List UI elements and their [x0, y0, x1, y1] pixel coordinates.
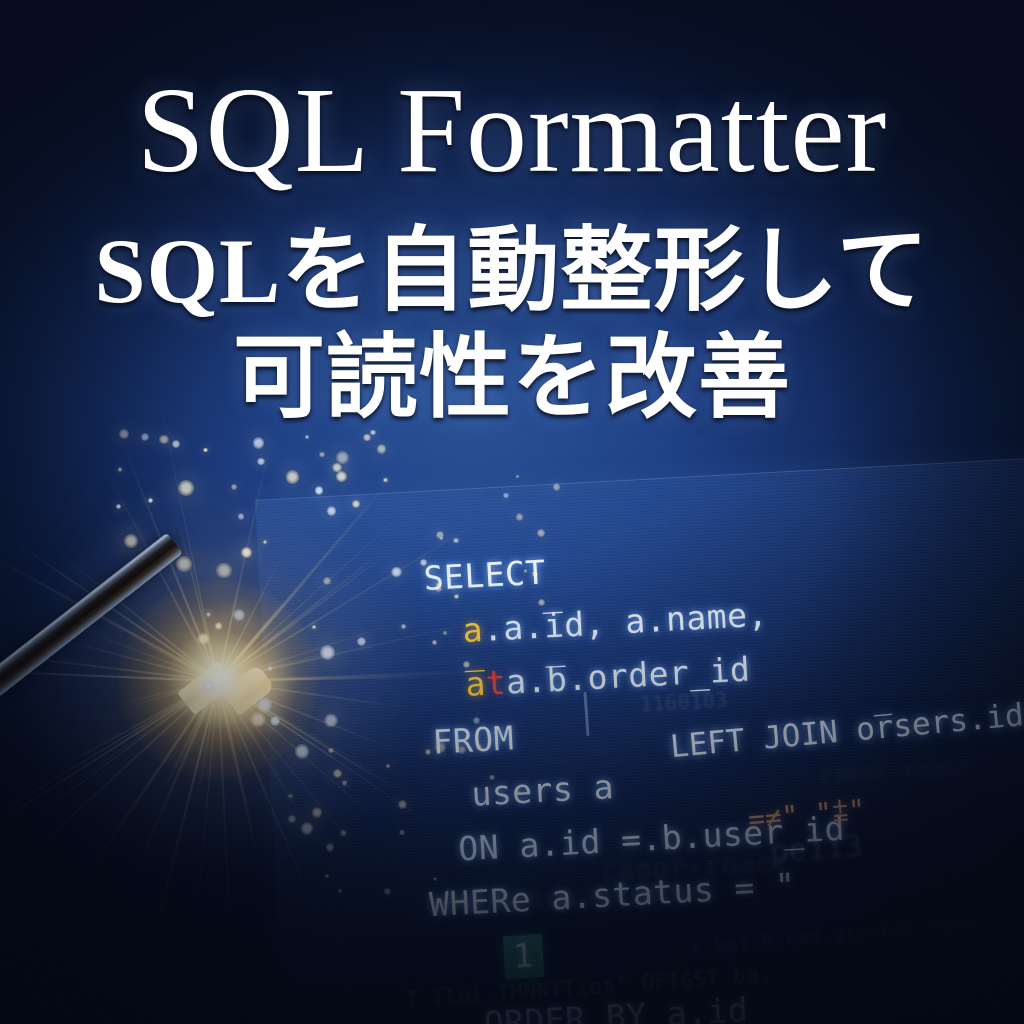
grain-texture-overlay	[0, 0, 1024, 1024]
poster-canvas: 1160103 caoor-roaor sols anna cnoo pe113…	[0, 0, 1024, 1024]
